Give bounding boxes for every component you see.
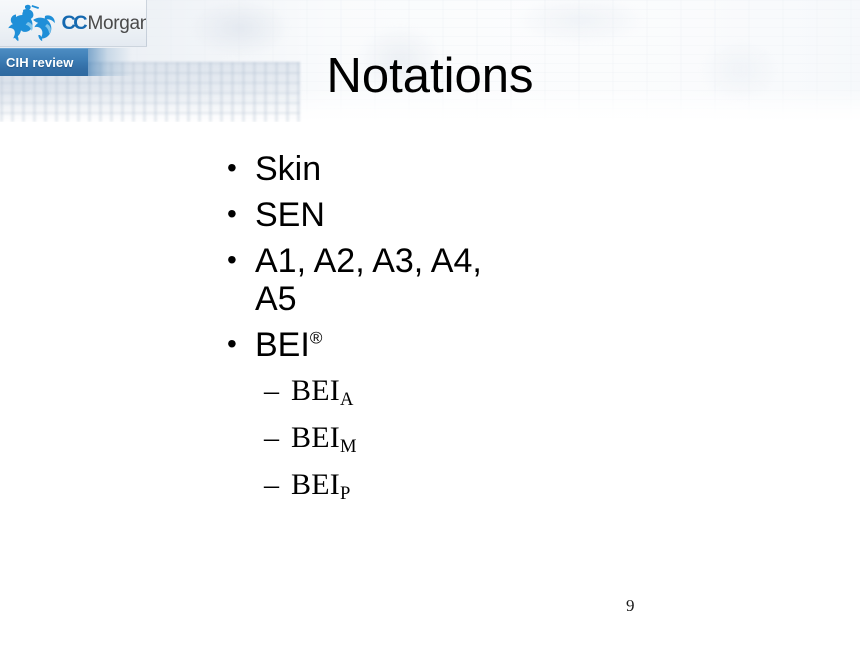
bullet-label: A1, A2, A3, A4, A5 [255, 242, 525, 318]
logo-name: Morgan [87, 14, 147, 33]
presentation-slide: CC Morgan CIH review Notations • Skin • … [0, 0, 860, 650]
sub-bullet-marker: – [264, 376, 291, 406]
bullet-label-text: BEI [255, 326, 310, 364]
sub-bullet-item: – BEIP [264, 470, 650, 500]
sub-bullet-marker: – [264, 423, 291, 453]
sub-bullet-label-text: BEI [291, 374, 340, 407]
sub-bullet-item: – BEIM [264, 423, 650, 453]
bullet-label: BEI® [255, 326, 525, 364]
page-number: 9 [626, 596, 635, 616]
bullet-item: • SEN [220, 196, 650, 234]
logo-prefix: CC [61, 14, 85, 33]
sub-bullet-list: – BEIA – BEIM – BEIP [264, 376, 650, 500]
logo-wordmark: CC Morgan [62, 14, 147, 33]
slide-body-content: • Skin • SEN • A1, A2, A3, A4, A5 • BEI®… [220, 150, 650, 517]
bullet-label: Skin [255, 150, 525, 188]
sub-bullet-subscript: A [340, 389, 353, 410]
bullet-item: • Skin [220, 150, 650, 188]
sub-bullet-label: BEIA [291, 376, 353, 406]
registered-trademark-symbol: ® [310, 329, 323, 348]
bullet-item: • BEI® [220, 326, 650, 364]
cc-morgan-equestrian-logo-icon [3, 2, 61, 44]
company-logo: CC Morgan [0, 0, 147, 47]
sub-bullet-subscript: P [340, 483, 350, 504]
sub-bullet-label: BEIP [291, 470, 350, 500]
bullet-marker: • [220, 150, 255, 186]
slide-title: Notations [0, 52, 860, 101]
sub-bullet-marker: – [264, 470, 291, 500]
bullet-marker: • [220, 196, 255, 232]
sub-bullet-label: BEIM [291, 423, 356, 453]
sub-bullet-label-text: BEI [291, 468, 340, 501]
sub-bullet-item: – BEIA [264, 376, 650, 406]
bullet-item: • A1, A2, A3, A4, A5 [220, 242, 650, 318]
sub-bullet-subscript: M [340, 436, 357, 457]
bullet-label: SEN [255, 196, 525, 234]
bullet-marker: • [220, 242, 255, 278]
sub-bullet-label-text: BEI [291, 421, 340, 454]
bullet-marker: • [220, 326, 255, 362]
